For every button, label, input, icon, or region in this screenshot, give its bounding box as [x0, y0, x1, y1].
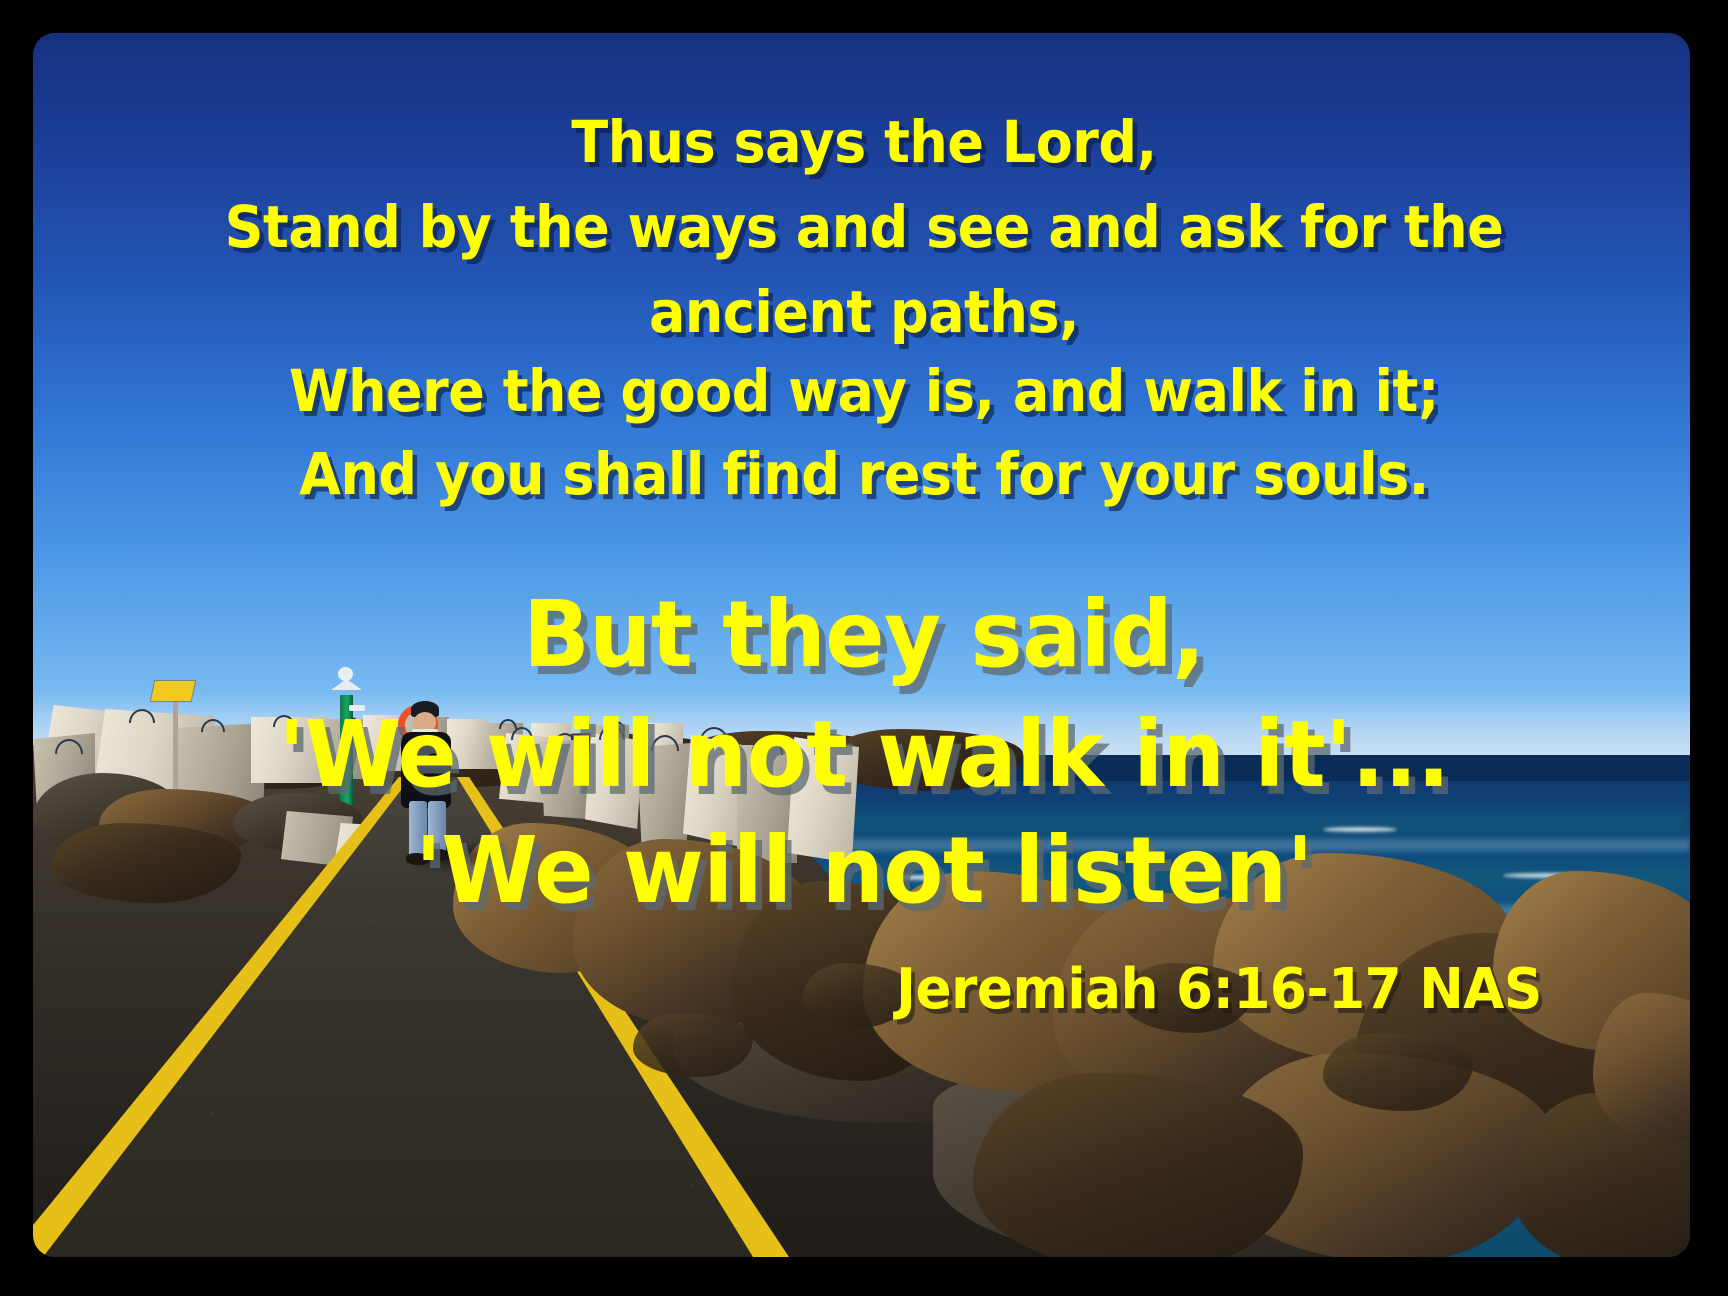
text-overlay: Thus says the Lord, Stand by the ways an… — [0, 0, 1728, 1296]
verse-line-3: ancient paths, — [60, 283, 1667, 341]
verse-line-2: Stand by the ways and see and ask for th… — [60, 198, 1667, 256]
slide-canvas: Thus says the Lord, Stand by the ways an… — [0, 0, 1728, 1296]
verse-line-5: And you shall find rest for your souls. — [60, 445, 1667, 503]
verse-line-1: Thus says the Lord, — [60, 113, 1667, 171]
shout-line-3: 'We will not listen' — [43, 825, 1685, 917]
shout-line-1: But they said, — [43, 589, 1685, 681]
scripture-attribution: Jeremiah 6:16-17 NAS — [86, 962, 1728, 1018]
verse-line-4: Where the good way is, and walk in it; — [60, 362, 1667, 420]
shout-line-2: 'We will not walk in it'... — [43, 709, 1685, 801]
